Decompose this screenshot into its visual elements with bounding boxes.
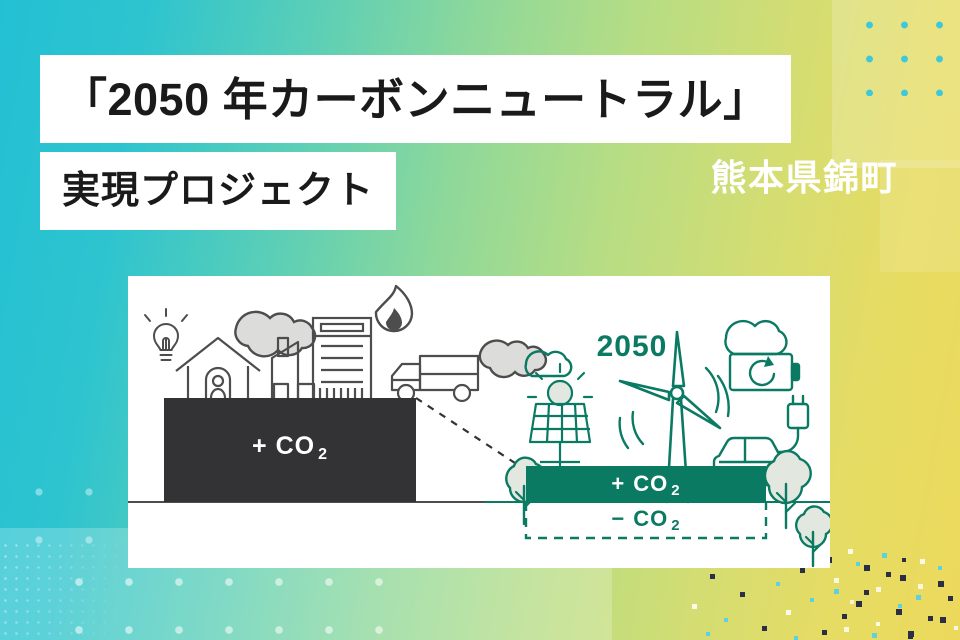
plus-sign: + (611, 471, 625, 496)
office-building-icon (313, 318, 371, 400)
charging-plug-icon (778, 396, 808, 452)
flame-icon (376, 286, 412, 331)
headline-line-2: 実現プロジェクト (62, 172, 374, 210)
absorption-label: −CO2 (611, 506, 680, 534)
co2-subscript: 2 (318, 446, 328, 463)
tree-icon (796, 506, 830, 566)
headline-line-1: 「2050 年カーボンニュートラル」 (62, 77, 769, 122)
co2-text: CO (276, 432, 316, 460)
truck-icon (392, 356, 478, 401)
cloud-icon (725, 321, 786, 354)
dot-grid-right-icon (940, 70, 960, 190)
carbon-neutral-diagram: +CO2 2050 (128, 276, 830, 568)
lightbulb-icon (145, 309, 187, 360)
co2-text: CO (633, 471, 668, 496)
smoke-cloud-icon (480, 341, 546, 377)
battery-recharge-icon (730, 354, 799, 390)
year-label-2050: 2050 (597, 330, 668, 363)
solar-panel-icon (530, 404, 590, 468)
minus-sign: − (611, 506, 625, 531)
co2-subscript: 2 (671, 517, 680, 534)
poster-canvas: 「2050 年カーボンニュートラル」 実現プロジェクト 熊本県錦町 (0, 0, 960, 640)
headline-box-secondary: 実現プロジェクト (40, 152, 396, 230)
co2-subscript: 2 (671, 482, 680, 499)
region-label: 熊本県錦町 (710, 160, 898, 196)
confetti-cluster-icon (820, 545, 960, 640)
headline-box-primary: 「2050 年カーボンニュートラル」 (40, 55, 791, 143)
plus-sign: + (252, 432, 268, 460)
smoke-cloud-icon (235, 312, 315, 356)
illustration-panel: +CO2 2050 (128, 276, 830, 568)
co2-text: CO (633, 506, 668, 531)
